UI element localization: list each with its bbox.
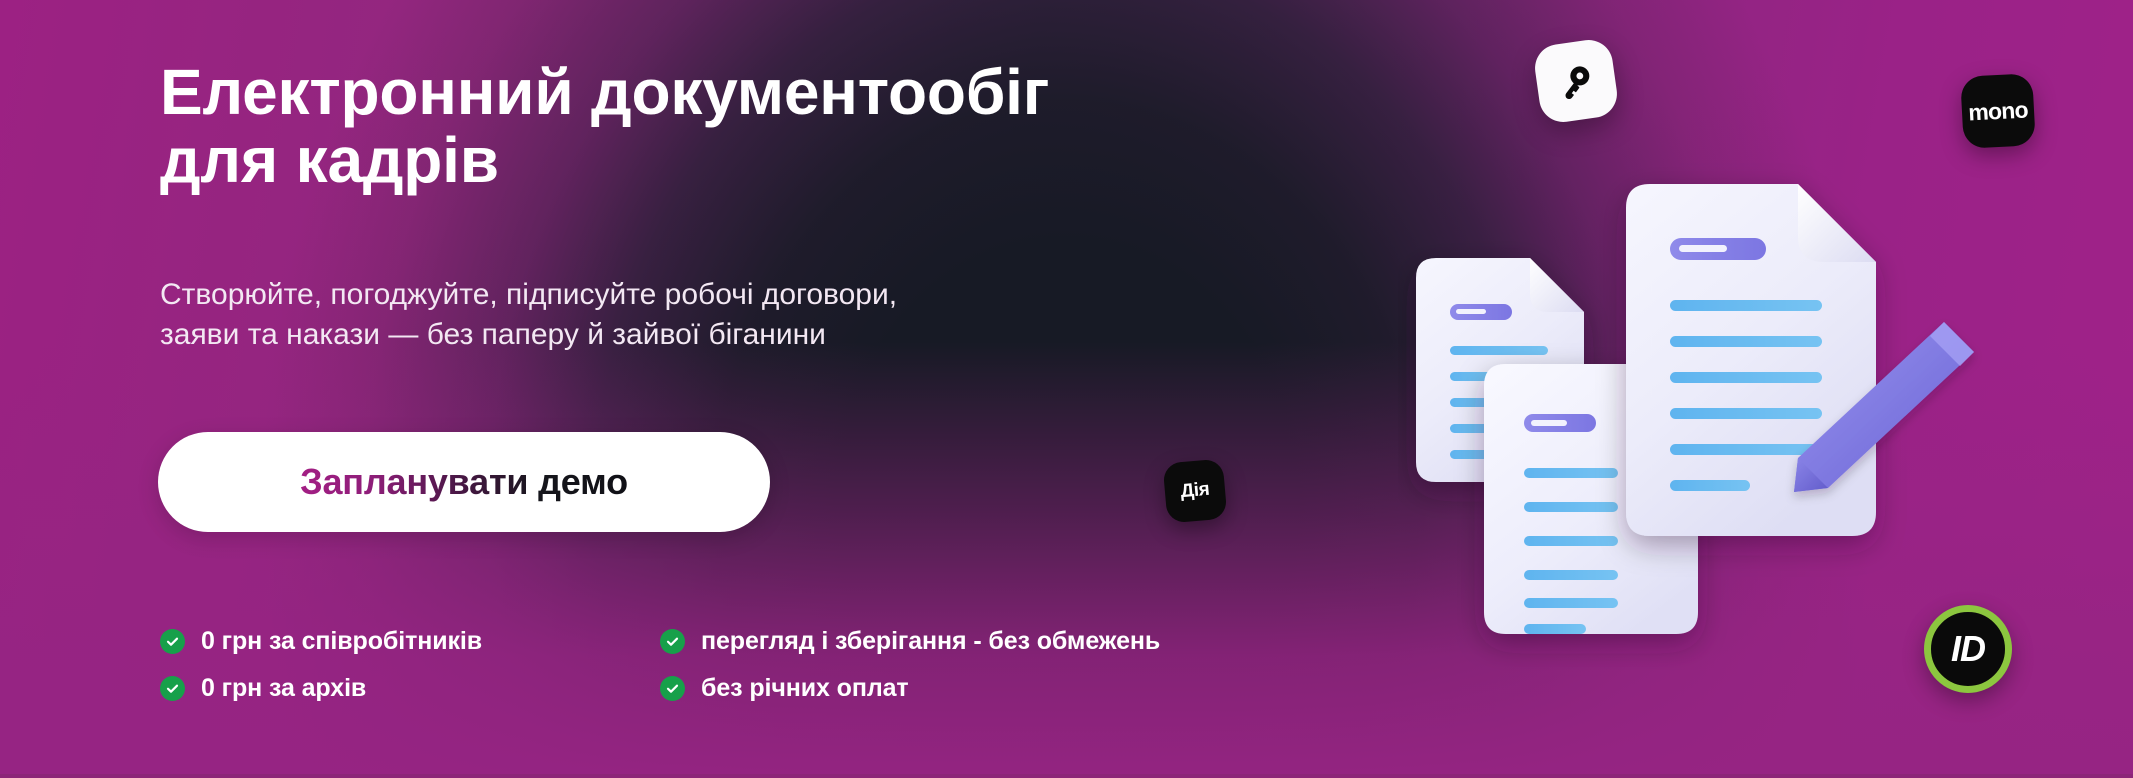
page-subtitle: Створюйте, погоджуйте, підписуйте робочі… (160, 275, 1380, 354)
document-card-main (1626, 184, 1876, 536)
page-title: Електронний документообіг для кадрів (160, 58, 1400, 195)
banner-content: Електронний документообіг для кадрів Ств… (0, 0, 1400, 778)
list-item: без річних оплат (660, 665, 1160, 712)
list-item: 0 грн за архів (160, 665, 660, 712)
check-circle-icon (660, 676, 685, 701)
id-badge-label: ID (1951, 628, 1985, 670)
mono-badge: mono (1960, 73, 2036, 149)
key-icon (1553, 58, 1598, 103)
promo-banner: mono Дія ID Електронний документообіг дл… (0, 0, 2133, 778)
feature-label: 0 грн за співробітників (201, 627, 482, 656)
list-item: перегляд і зберігання - без обмежень (660, 618, 1160, 665)
feature-label: без річних оплат (701, 674, 909, 703)
bottom-divider (0, 774, 2133, 778)
feature-list: 0 грн за співробітників перегляд і збері… (160, 618, 1160, 712)
feature-label: перегляд і зберігання - без обмежень (701, 627, 1160, 656)
documents-with-pen-illustration (1398, 150, 2018, 670)
feature-label: 0 грн за архів (201, 674, 366, 703)
list-item: 0 грн за співробітників (160, 618, 660, 665)
id-badge: ID (1924, 605, 2012, 693)
check-circle-icon (160, 629, 185, 654)
key-badge (1532, 37, 1620, 125)
schedule-demo-button[interactable]: Запланувати демо (158, 432, 770, 532)
schedule-demo-button-label: Запланувати демо (300, 461, 628, 503)
check-circle-icon (160, 676, 185, 701)
check-circle-icon (660, 629, 685, 654)
mono-badge-label: mono (1968, 96, 2029, 126)
